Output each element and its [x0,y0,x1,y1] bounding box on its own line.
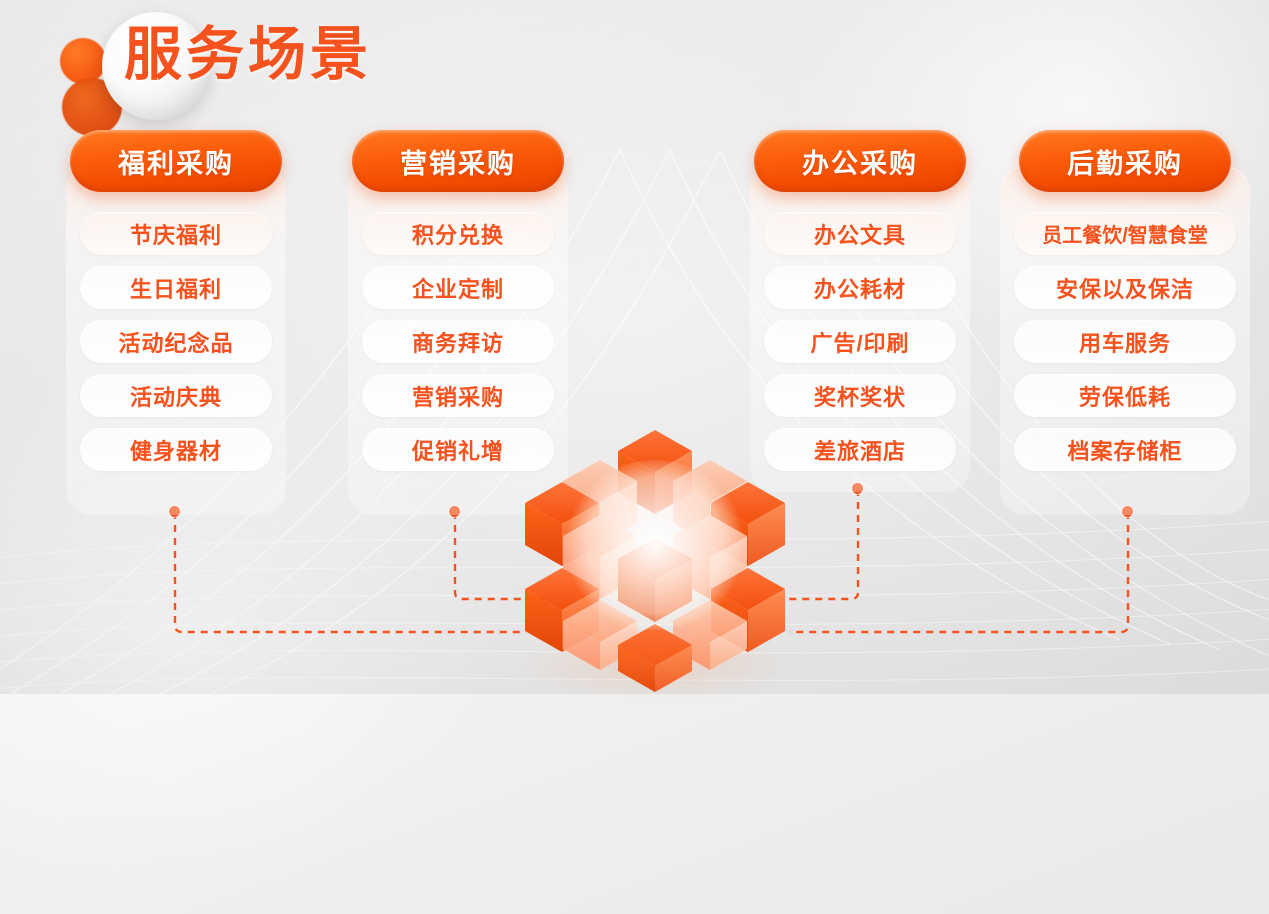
column-header-welfare[interactable]: 福利采购 [70,130,282,192]
list-item[interactable]: 健身器材 [80,428,272,471]
list-item[interactable]: 员工餐饮/智慧食堂 [1014,212,1236,255]
column-items-office: 办公文具 办公耗材 广告/印刷 奖杯奖状 差旅酒店 [764,212,956,482]
list-item[interactable]: 办公文具 [764,212,956,255]
column-items-logistics: 员工餐饮/智慧食堂 安保以及保洁 用车服务 劳保低耗 档案存储柜 [1014,212,1236,482]
decor-dot-small-icon [60,38,106,84]
list-item[interactable]: 办公耗材 [764,266,956,309]
column-header-office[interactable]: 办公采购 [754,130,966,192]
list-item[interactable]: 企业定制 [362,266,554,309]
list-item[interactable]: 安保以及保洁 [1014,266,1236,309]
list-item[interactable]: 商务拜访 [362,320,554,363]
list-item[interactable]: 活动庆典 [80,374,272,417]
list-item[interactable]: 奖杯奖状 [764,374,956,417]
cube-reflection [515,630,795,700]
list-item[interactable]: 档案存储柜 [1014,428,1236,471]
list-item[interactable]: 生日福利 [80,266,272,309]
column-items-welfare: 节庆福利 生日福利 活动纪念品 活动庆典 健身器材 [80,212,272,482]
list-item[interactable]: 节庆福利 [80,212,272,255]
list-item[interactable]: 营销采购 [362,374,554,417]
list-item[interactable]: 促销礼增 [362,428,554,471]
cube-core-glow [565,460,745,630]
page-title-block: 服务场景 [56,6,486,126]
list-item[interactable]: 活动纪念品 [80,320,272,363]
column-header-marketing[interactable]: 营销采购 [352,130,564,192]
list-item[interactable]: 积分兑换 [362,212,554,255]
list-item[interactable]: 广告/印刷 [764,320,956,363]
column-marketing[interactable]: 营销采购 积分兑换 企业定制 商务拜访 营销采购 促销礼增 [348,130,568,515]
list-item[interactable]: 劳保低耗 [1014,374,1236,417]
column-welfare[interactable]: 福利采购 节庆福利 生日福利 活动纪念品 活动庆典 健身器材 [66,130,286,515]
column-office[interactable]: 办公采购 办公文具 办公耗材 广告/印刷 奖杯奖状 差旅酒店 [750,130,970,492]
slide-canvas: 服务场景 福利采购 节庆福利 生日福利 活动纪念品 活动庆典 健身器材 [0,0,1269,694]
page-title: 服务场景 [124,26,372,84]
list-item[interactable]: 差旅酒店 [764,428,956,471]
column-header-logistics[interactable]: 后勤采购 [1019,130,1231,192]
list-item[interactable]: 用车服务 [1014,320,1236,363]
column-items-marketing: 积分兑换 企业定制 商务拜访 营销采购 促销礼增 [362,212,554,482]
column-logistics[interactable]: 后勤采购 员工餐饮/智慧食堂 安保以及保洁 用车服务 劳保低耗 档案存储柜 [1000,130,1250,515]
